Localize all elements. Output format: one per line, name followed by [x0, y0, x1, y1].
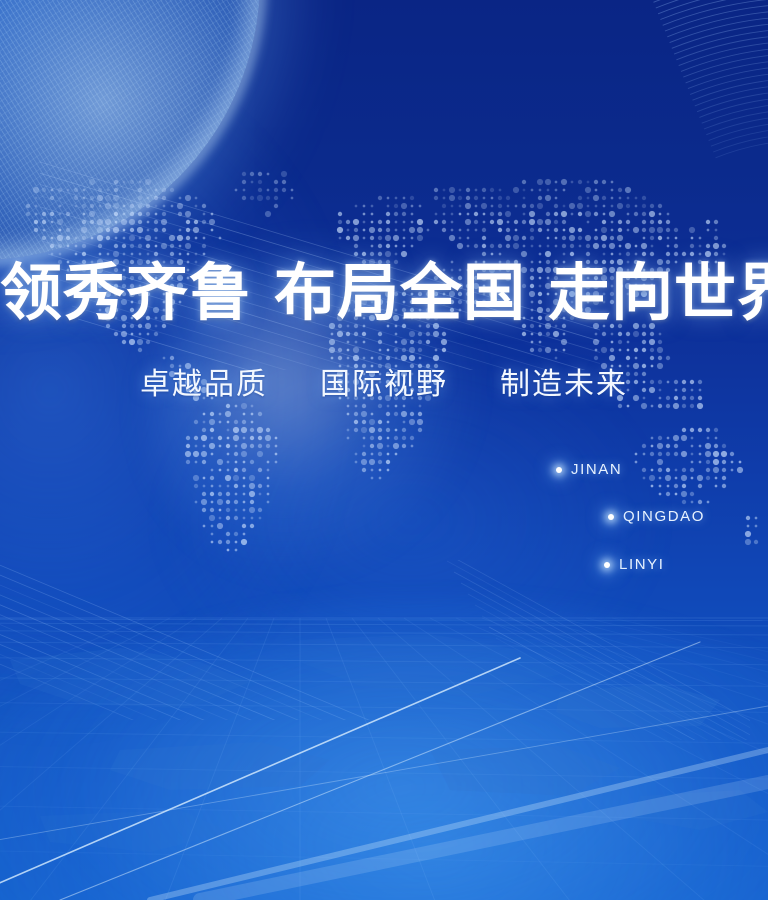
city-label-jinan: JINAN	[571, 461, 622, 478]
banner-hero: 领秀齐鲁布局全国走向世界 卓越品质国际视野制造未来 JINAN QINGDAO …	[0, 0, 768, 900]
subheadline-segment-2: 国际视野	[320, 364, 448, 406]
floor-grid-lines	[0, 600, 768, 900]
perspective-grid-icon	[0, 600, 768, 900]
city-dot-icon	[604, 562, 610, 568]
globe-sphere	[0, 0, 260, 260]
headline-segment-1: 领秀齐鲁	[0, 258, 252, 330]
diagonal-line-bundle-top	[40, 140, 600, 370]
globe-icon	[0, 0, 260, 260]
headline-segment-3: 走向世界	[548, 258, 768, 330]
city-marker-linyi[interactable]: LINYI	[604, 556, 665, 573]
subheadline: 卓越品质国际视野制造未来	[0, 364, 768, 406]
city-dot-icon	[608, 514, 614, 520]
subheadline-segment-3: 制造未来	[500, 364, 628, 406]
globe-rim-light	[0, 0, 266, 266]
headline: 领秀齐鲁布局全国走向世界	[0, 258, 768, 330]
diagonal-line-bundle-left	[0, 420, 420, 720]
diagonal-line-bundle-right	[430, 560, 750, 740]
city-marker-qingdao[interactable]: QINGDAO	[608, 508, 705, 525]
floor-haze	[0, 640, 768, 900]
globe-texture	[0, 0, 260, 260]
subheadline-segment-1: 卓越品质	[140, 364, 268, 406]
city-label-linyi: LINYI	[619, 556, 665, 573]
city-label-qingdao: QINGDAO	[623, 508, 705, 525]
headline-segment-2: 布局全国	[274, 258, 526, 330]
city-marker-jinan[interactable]: JINAN	[556, 461, 622, 478]
city-dot-icon	[556, 467, 562, 473]
dot-world-map-icon	[0, 170, 768, 670]
ambient-glow-bottom	[0, 600, 768, 900]
